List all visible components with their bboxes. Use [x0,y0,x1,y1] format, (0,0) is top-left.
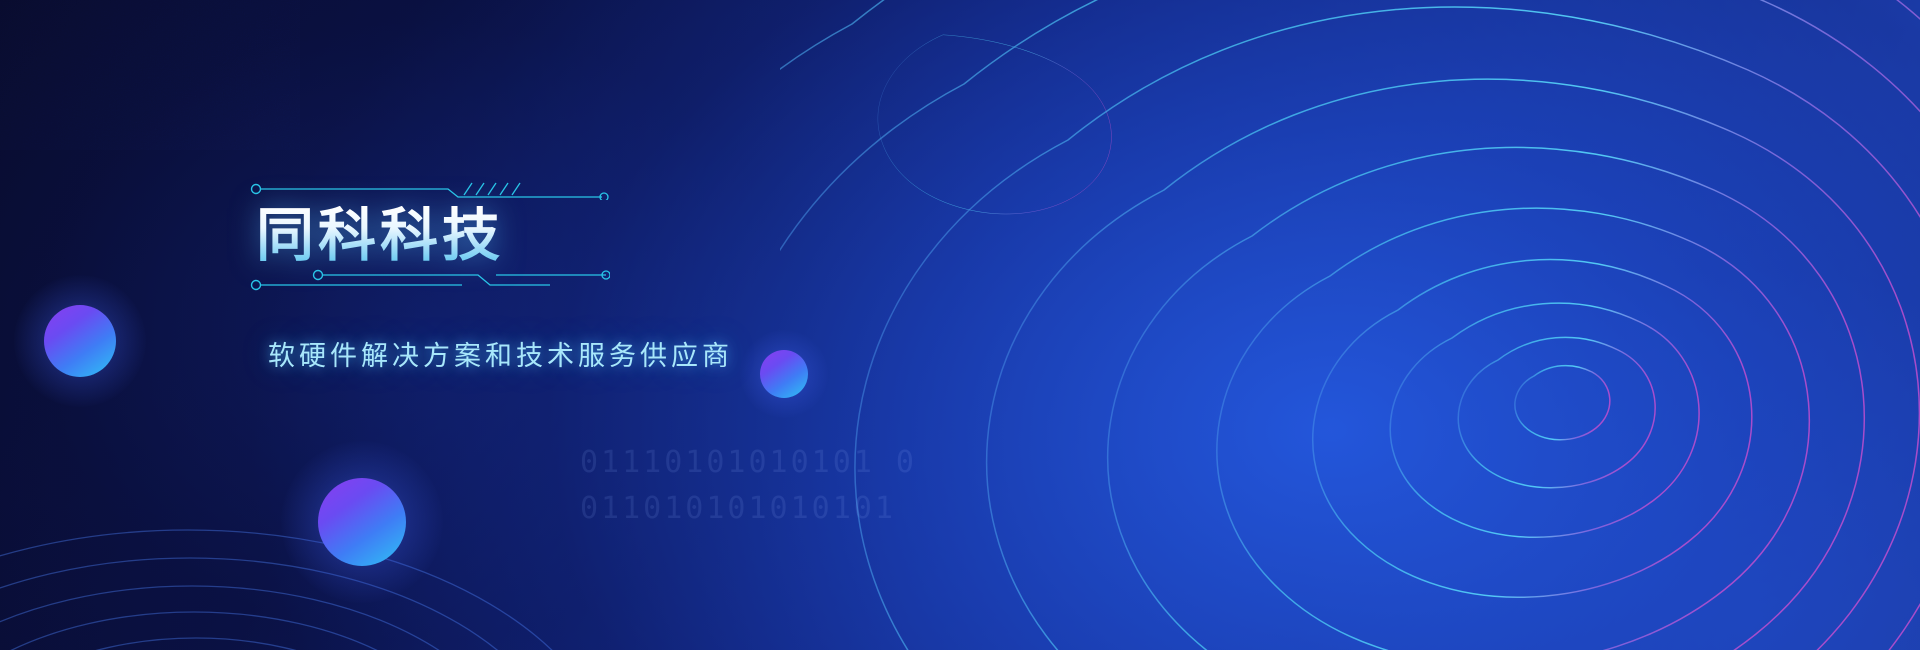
hero-banner: 01110101010101 0 011010101010101 同科科技 [0,0,1920,650]
topographic-contours-left [0,340,580,650]
orb-halo [14,275,146,407]
noise-texture [0,0,300,150]
binary-watermark: 01110101010101 0 011010101010101 [580,440,917,532]
tech-line-top [250,178,610,200]
brand-block: 同科科技 软硬件解决方案和技术服务供应商 [250,178,970,373]
tech-line-top-node [252,185,261,194]
brand-subtitle: 软硬件解决方案和技术服务供应商 [268,334,970,373]
orb-halo [281,441,443,603]
tech-line-bottom [250,268,610,292]
tech-line-bottom-node-upper [314,271,323,280]
brand-title: 同科科技 [256,206,970,264]
gradient-orb-bottom [318,478,406,566]
tech-line-bottom-node [252,281,261,290]
gradient-orb-large [44,305,116,377]
